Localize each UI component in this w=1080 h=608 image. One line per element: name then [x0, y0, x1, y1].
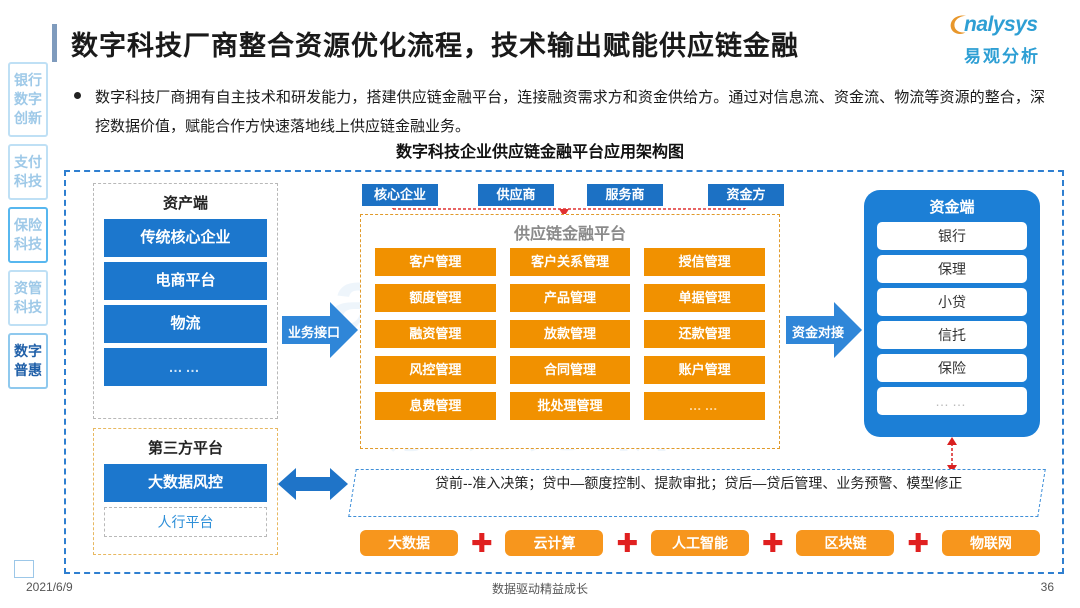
role-service-provider[interactable]: 服务商: [587, 184, 663, 206]
sidebar-item-bank[interactable]: 银​行​数​字​创​新: [8, 62, 48, 137]
fund-row-more[interactable]: ……: [877, 387, 1027, 415]
asset-panel-title: 资产端: [104, 184, 267, 219]
logo-cn-text: 易观分析: [942, 42, 1062, 67]
asset-row-more[interactable]: ……: [104, 348, 267, 386]
loan-lifecycle-note: 贷前--准入决策；贷中—额度控制、提款审批；贷后—贷后管理、业务预警、模型修正: [348, 469, 1046, 517]
module-quota-mgmt[interactable]: 额度管理: [375, 284, 496, 312]
fund-row-trust[interactable]: 信托: [877, 321, 1027, 349]
sidebar-item-assetmgmt[interactable]: 资​管​科​技: [8, 270, 48, 326]
diagram-caption: 数字科技企业供应链金融平台应用架构图: [0, 138, 1080, 162]
loan-lifecycle-text: 贷前--准入决策；贷中—额度控制、提款审批；贷后—贷后管理、业务预警、模型修正: [355, 470, 1043, 495]
module-document-mgmt[interactable]: 单据管理: [644, 284, 765, 312]
fund-row-bank[interactable]: 银行: [877, 222, 1027, 250]
module-more[interactable]: ……: [644, 392, 765, 420]
plus-icon-4: ✚: [907, 533, 929, 553]
fund-row-insurance[interactable]: 保险: [877, 354, 1027, 382]
module-financing-mgmt[interactable]: 融资管理: [375, 320, 496, 348]
tech-blockchain[interactable]: 区块链: [796, 530, 894, 556]
module-credit-mgmt[interactable]: 授信管理: [644, 248, 765, 276]
asset-row-ecommerce[interactable]: 电商平台: [104, 262, 267, 300]
plus-icon-2: ✚: [616, 533, 638, 553]
module-product-mgmt[interactable]: 产品管理: [510, 284, 631, 312]
bullet-dot-icon: [74, 92, 81, 99]
module-repayment-mgmt[interactable]: 还款管理: [644, 320, 765, 348]
module-loan-disbursement[interactable]: 放款管理: [510, 320, 631, 348]
fund-lifecycle-link-arrow-icon: [944, 437, 960, 473]
tech-iot[interactable]: 物联网: [942, 530, 1040, 556]
fund-row-factoring[interactable]: 保理: [877, 255, 1027, 283]
page-title: 数字科技厂商整合资源优化流程，技术输出赋能供应链金融: [52, 20, 932, 66]
module-risk-control-mgmt[interactable]: 风控管理: [375, 356, 496, 384]
platform-module-grid: 客户管理 客户关系管理 授信管理 额度管理 产品管理 单据管理 融资管理 放款管…: [361, 248, 779, 420]
third-party-title: 第三方平台: [104, 429, 267, 464]
third-party-panel: 第三方平台 大数据风控 人行平台: [93, 428, 278, 555]
tech-ai[interactable]: 人工智能: [651, 530, 749, 556]
bullet-paragraph: 数字科技厂商拥有自主技术和研发能力，搭建供应链金融平台，连接融资需求方和资金供给…: [62, 83, 1062, 141]
bidirectional-arrow-icon: [278, 462, 348, 506]
sidebar: 银​行​数​字​创​新 支​付​科​技 保​险​科​技 资​管​科​技 数​字​…: [8, 62, 48, 396]
asset-side-panel: 资产端 传统核心企业 电商平台 物流 ……: [93, 183, 278, 419]
tech-cloud[interactable]: 云计算: [505, 530, 603, 556]
fund-row-microloan[interactable]: 小贷: [877, 288, 1027, 316]
slide-root: 数字科技厂商整合资源优化流程，技术输出赋能供应链金融 nalysys 易观分析 …: [0, 0, 1080, 608]
title-text: 数字科技厂商整合资源优化流程，技术输出赋能供应链金融: [71, 24, 799, 63]
sidebar-item-inclusive-finance[interactable]: 数​字​普​惠: [8, 333, 48, 389]
module-batch-processing[interactable]: 批处理管理: [510, 392, 631, 420]
module-customer-mgmt[interactable]: 客户管理: [375, 248, 496, 276]
plus-icon-3: ✚: [762, 533, 784, 553]
fund-docking-label: 资金对接: [792, 322, 844, 341]
supply-chain-finance-platform: 供应链金融平台 客户管理 客户关系管理 授信管理 额度管理 产品管理 单据管理 …: [360, 214, 780, 449]
plus-icon-1: ✚: [471, 533, 493, 553]
fund-panel-title: 资金端: [877, 190, 1027, 222]
analysys-logo: nalysys 易观分析: [942, 12, 1062, 64]
business-interface-label: 业务接口: [288, 322, 340, 341]
logo-wordmark: nalysys: [942, 12, 1062, 40]
asset-row-core-enterprise[interactable]: 传统核心企业: [104, 219, 267, 257]
role-funder[interactable]: 资金方: [708, 184, 784, 206]
title-accent-rule: [52, 24, 57, 62]
asset-row-logistics[interactable]: 物流: [104, 305, 267, 343]
module-crm[interactable]: 客户关系管理: [510, 248, 631, 276]
corner-marker: [14, 560, 34, 578]
footer-page-number: 36: [1041, 580, 1054, 594]
tech-bigdata[interactable]: 大数据: [360, 530, 458, 556]
third-party-row-bigdata-risk[interactable]: 大数据风控: [104, 464, 267, 502]
module-account-mgmt[interactable]: 账户管理: [644, 356, 765, 384]
platform-title: 供应链金融平台: [361, 215, 779, 248]
role-supplier[interactable]: 供应商: [478, 184, 554, 206]
third-party-row-pboc-platform[interactable]: 人行平台: [104, 507, 267, 537]
sidebar-item-insurance[interactable]: 保​险​科​技: [8, 207, 48, 263]
bullet-text: 数字科技厂商拥有自主技术和研发能力，搭建供应链金融平台，连接融资需求方和资金供给…: [95, 83, 1045, 141]
footer-slogan: 数据驱动精益成长: [0, 580, 1080, 597]
fund-side-panel: 资金端 银行 保理 小贷 信托 保险 ……: [864, 190, 1040, 437]
logo-text: nalysys: [964, 13, 1038, 37]
module-fee-mgmt[interactable]: 息费管理: [375, 392, 496, 420]
technology-stack-row: 大数据 ✚ 云计算 ✚ 人工智能 ✚ 区块链 ✚ 物联网: [360, 528, 1040, 558]
role-core-enterprise[interactable]: 核心企业: [362, 184, 438, 206]
module-contract-mgmt[interactable]: 合同管理: [510, 356, 631, 384]
footer: 2021/6/9 数据驱动精益成长 36: [0, 580, 1080, 600]
